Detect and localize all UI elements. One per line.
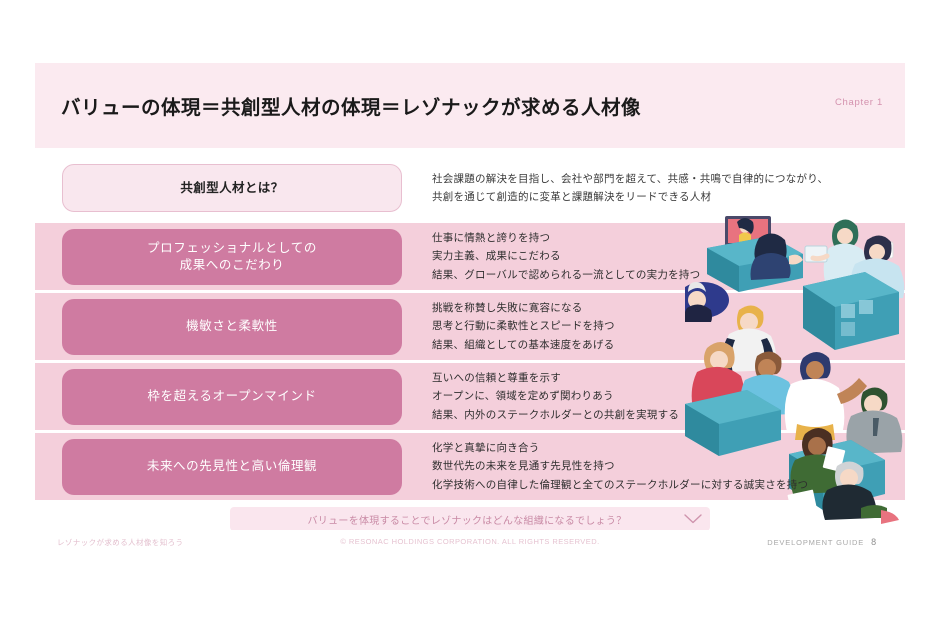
desc-line: 化学技術への自律した倫理観と全てのステークホルダーに対する誠実さを持つ <box>432 476 808 494</box>
content-area: 共創型人材とは？ 社会課題の解決を目指し、会社や部門を超えて、共感・共鳴で自律的… <box>35 148 905 530</box>
desc-line: 互いへの信頼と尊重を示す <box>432 369 679 387</box>
cta-label: バリューを体現することでレゾナックはどんな組織になるでしょう？ <box>230 512 676 527</box>
footer-guide-label: DEVELOPMENT GUIDE8 <box>767 537 877 547</box>
row-open-mind-description: 互いへの信頼と尊重を示す オープンに、領域を定めず関わりあう 結果、内外のステー… <box>432 369 679 424</box>
page-title: バリューの体現＝共創型人材の体現＝レゾナックが求める人材像 <box>61 91 641 120</box>
row-agility: 機敏さと柔軟性 挑戦を称賛し失敗に寛容になる 思考と行動に柔軟性とスピードを持つ… <box>35 293 905 360</box>
row-intro: 共創型人材とは？ 社会課題の解決を目指し、会社や部門を超えて、共感・共鳴で自律的… <box>35 160 905 216</box>
desc-line: 結果、グローバルで認められる一流としての実力を持つ <box>432 266 700 284</box>
row-foresight-label-line: 未来への先見性と高い倫理観 <box>147 458 317 475</box>
cta-bar[interactable]: バリューを体現することでレゾナックはどんな組織になるでしょう？ <box>230 507 710 530</box>
footer-guide-text: DEVELOPMENT GUIDE <box>767 538 864 547</box>
row-open-mind-label: 枠を超えるオープンマインド <box>62 369 402 425</box>
footer: レゾナックが求める人材像を知ろう © RESONAC HOLDINGS CORP… <box>35 535 905 551</box>
row-agility-description: 挑戦を称賛し失敗に寛容になる 思考と行動に柔軟性とスピードを持つ 結果、組織とし… <box>432 299 615 354</box>
row-agility-label: 機敏さと柔軟性 <box>62 299 402 355</box>
desc-line: オープンに、領域を定めず関わりあう <box>432 387 679 405</box>
desc-line: 化学と真摯に向き合う <box>432 439 808 457</box>
desc-line: 数世代先の未来を見通す先見性を持つ <box>432 457 808 475</box>
desc-line: 仕事に情熱と誇りを持つ <box>432 229 700 247</box>
header-band: バリューの体現＝共創型人材の体現＝レゾナックが求める人材像 Chapter 1 <box>35 63 905 148</box>
desc-line: 結果、組織としての基本速度をあげる <box>432 336 615 354</box>
row-professional-label-line: 成果へのこだわり <box>147 257 317 274</box>
row-foresight-label: 未来への先見性と高い倫理観 <box>62 439 402 495</box>
row-open-mind: 枠を超えるオープンマインド 互いへの信頼と尊重を示す オープンに、領域を定めず関… <box>35 363 905 430</box>
desc-line: 思考と行動に柔軟性とスピードを持つ <box>432 317 615 335</box>
slide-canvas: バリューの体現＝共創型人材の体現＝レゾナックが求める人材像 Chapter 1 <box>0 0 940 627</box>
chevron-down-icon[interactable] <box>676 514 710 524</box>
row-foresight-description: 化学と真摯に向き合う 数世代先の未来を見通す先見性を持つ 化学技術への自律した倫… <box>432 439 808 494</box>
row-agility-label-line: 機敏さと柔軟性 <box>186 318 278 335</box>
row-intro-description: 社会課題の解決を目指し、会社や部門を超えて、共感・共鳴で自律的につながり、 共創… <box>432 170 828 207</box>
row-intro-label-line: 共創型人材とは？ <box>180 180 283 197</box>
desc-line: 結果、内外のステークホルダーとの共創を実現する <box>432 406 679 424</box>
row-foresight: 未来への先見性と高い倫理観 化学と真摯に向き合う 数世代先の未来を見通す先見性を… <box>35 433 905 500</box>
row-open-mind-label-line: 枠を超えるオープンマインド <box>147 388 316 405</box>
page-frame: バリューの体現＝共創型人材の体現＝レゾナックが求める人材像 Chapter 1 <box>35 63 905 530</box>
chapter-label: Chapter 1 <box>835 97 883 108</box>
row-professional: プロフェッショナルとしての 成果へのこだわり 仕事に情熱と誇りを持つ 実力主義、… <box>35 223 905 290</box>
row-intro-label: 共創型人材とは？ <box>62 164 402 212</box>
row-professional-label: プロフェッショナルとしての 成果へのこだわり <box>62 229 402 285</box>
desc-line: 実力主義、成果にこだわる <box>432 247 700 265</box>
desc-line: 挑戦を称賛し失敗に寛容になる <box>432 299 615 317</box>
row-professional-description: 仕事に情熱と誇りを持つ 実力主義、成果にこだわる 結果、グローバルで認められる一… <box>432 229 700 284</box>
footer-page-number: 8 <box>871 537 877 547</box>
row-professional-label-line: プロフェッショナルとしての <box>147 240 317 257</box>
desc-line: 社会課題の解決を目指し、会社や部門を超えて、共感・共鳴で自律的につながり、 <box>432 170 828 188</box>
desc-line: 共創を通じて創造的に変革と課題解決をリードできる人材 <box>432 188 828 206</box>
